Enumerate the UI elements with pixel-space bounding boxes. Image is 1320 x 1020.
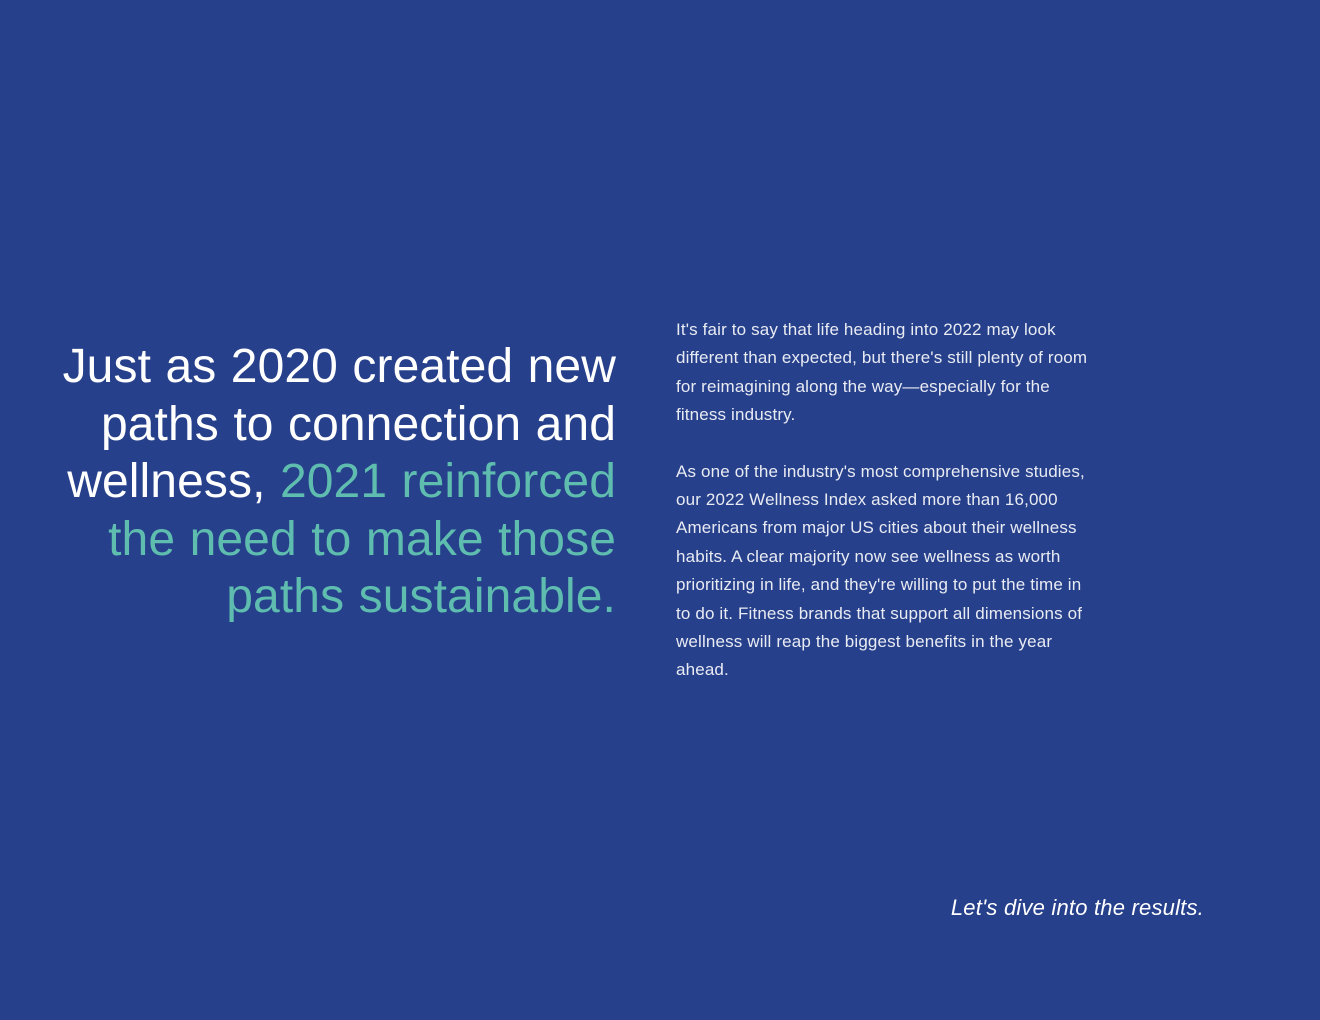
body-copy-column: It's fair to say that life heading into … (676, 316, 1094, 685)
page-title: Just as 2020 created new paths to connec… (60, 338, 616, 626)
body-paragraph-1: It's fair to say that life heading into … (676, 316, 1094, 430)
closing-callout-text: Let's dive into the results. (951, 893, 1204, 923)
slide-canvas: Just as 2020 created new paths to connec… (0, 0, 1320, 1020)
body-paragraph-2: As one of the industry's most comprehens… (676, 458, 1094, 685)
